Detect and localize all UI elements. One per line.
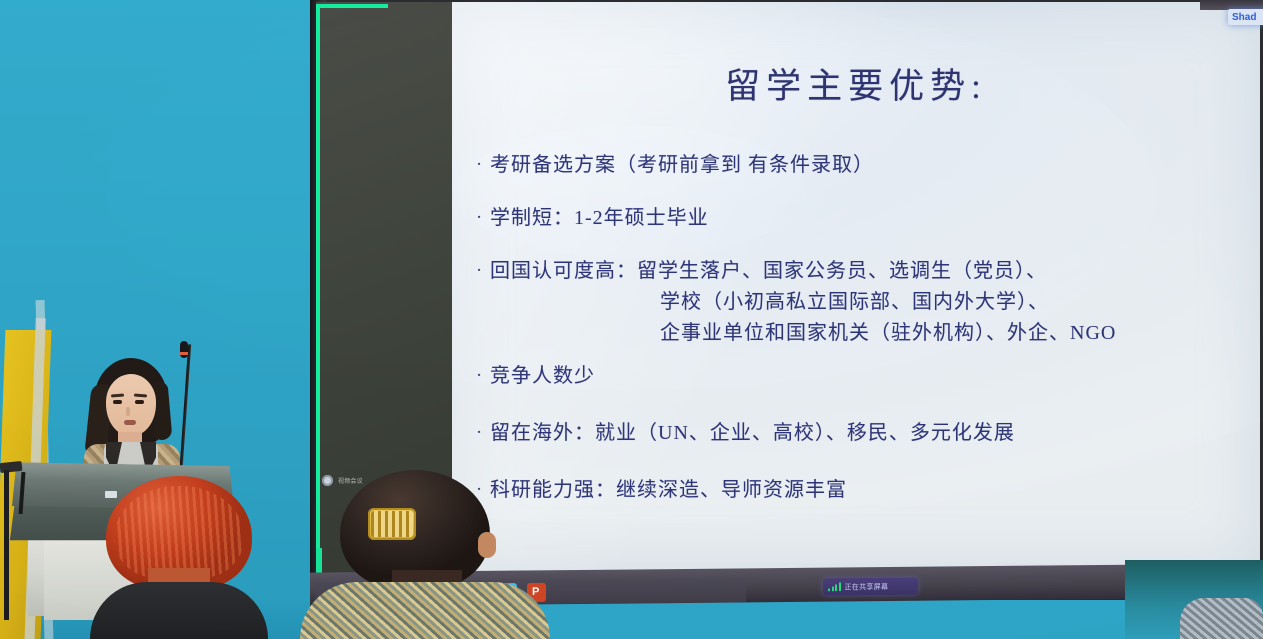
bullet-marker-icon: · xyxy=(468,475,490,505)
microphone-head-icon xyxy=(180,341,188,358)
bullet-marker-icon: · xyxy=(468,150,490,180)
presenter-nose xyxy=(126,407,130,416)
projected-slide: 留学主要优势: · 考研备选方案（考研前拿到 有条件录取） · 学制短：1-2年… xyxy=(452,2,1260,572)
slide-bullet-item: · 竞争人数少 xyxy=(468,361,1248,392)
audience-tweed-jacket xyxy=(300,582,550,639)
gold-hair-clip-icon xyxy=(368,508,416,540)
slide-bullet-item: · 回国认可度高：留学生落户、国家公务员、选调生（党员）、 学校（小初高私立国际… xyxy=(468,256,1248,349)
slide-bullet-item: · 科研能力强：继续深造、导师资源丰富 xyxy=(468,475,1248,506)
bullet-text: 回国认可度高：留学生落户、国家公务员、选调生（党员）、 xyxy=(490,260,1047,282)
lecture-hall-screenshot: 视频会议 留学主要优势: · 考研备选方案（考研前拿到 有条件录取） · 学制短… xyxy=(0,0,1263,639)
slide-bullet-list: · 考研备选方案（考研前拿到 有条件录取） · 学制短：1-2年硕士毕业 · 回… xyxy=(468,150,1248,528)
slide-bullet-item: · 学制短：1-2年硕士毕业 xyxy=(468,203,1248,234)
audience-member-right xyxy=(1180,598,1263,639)
bullet-marker-icon: · xyxy=(468,203,490,233)
bullet-text: 学制短：1-2年硕士毕业 xyxy=(490,203,709,234)
presenter-mouth xyxy=(124,420,136,425)
audience-red-jacket xyxy=(90,582,268,639)
screen-share-notice[interactable]: 正在共享屏幕 xyxy=(823,578,918,596)
audience-right-shoulder xyxy=(1180,598,1263,639)
presenter-eye-left xyxy=(113,400,122,404)
screen-share-border-top xyxy=(316,4,388,8)
presenter-face xyxy=(106,374,156,436)
screen-share-notice-label: 正在共享屏幕 xyxy=(845,581,889,591)
audience-member-red-hair xyxy=(90,476,268,639)
bullet-text: 竞争人数少 xyxy=(490,361,595,392)
bullet-text: 考研备选方案（考研前拿到 有条件录取） xyxy=(490,150,874,181)
bullet-text: 留在海外：就业（UN、企业、高校）、移民、多元化发展 xyxy=(490,418,1015,449)
bullet-subline: 学校（小初高私立国际部、国内外大学）、 xyxy=(490,287,1116,318)
bullet-subline: 企事业单位和国家机关（驻外机构）、外企、NGO xyxy=(490,318,1116,349)
slide-bullet-item: · 留在海外：就业（UN、企业、高校）、移民、多元化发展 xyxy=(468,418,1248,449)
signal-bars-icon xyxy=(828,582,841,591)
bullet-text-group: 回国认可度高：留学生落户、国家公务员、选调生（党员）、 学校（小初高私立国际部、… xyxy=(490,256,1116,349)
bullet-marker-icon: · xyxy=(468,256,490,286)
bullet-marker-icon: · xyxy=(468,418,490,448)
bullet-text: 科研能力强：继续深造、导师资源丰富 xyxy=(490,475,847,506)
slide-title: 留学主要优势: xyxy=(452,58,1260,109)
microphone-band xyxy=(180,352,188,355)
presenter-eye-right xyxy=(135,400,144,404)
slide-bullet-item: · 考研备选方案（考研前拿到 有条件录取） xyxy=(468,150,1248,181)
podium-side-pole xyxy=(4,470,9,620)
bullet-marker-icon: · xyxy=(468,361,490,391)
